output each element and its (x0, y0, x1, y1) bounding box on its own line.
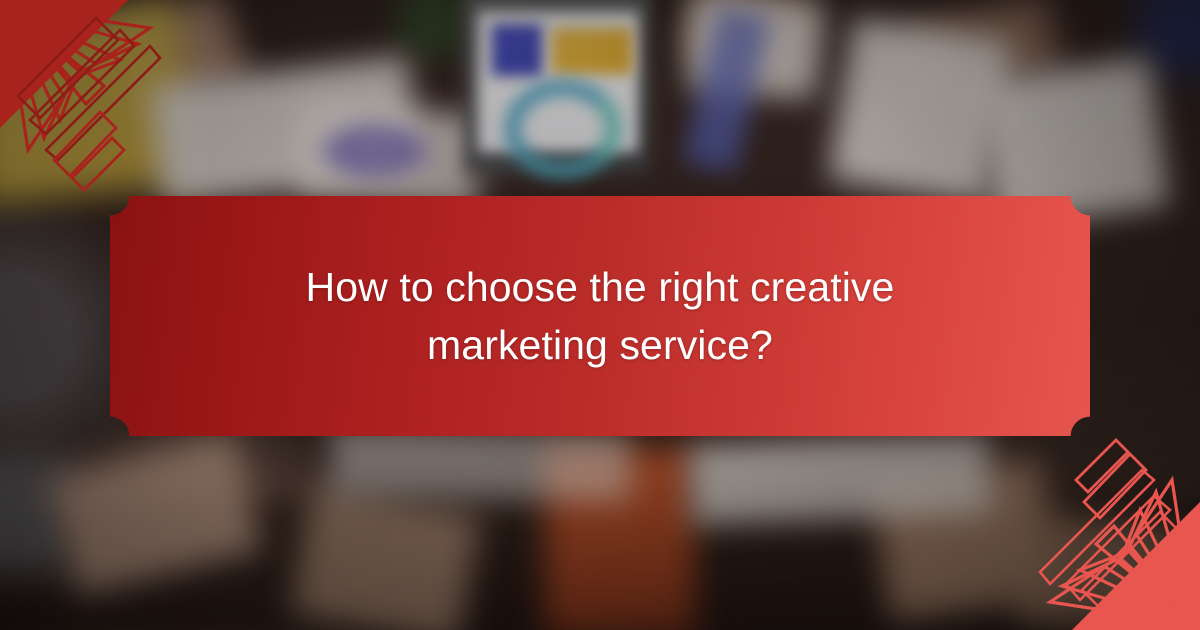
title-card: How to choose the right creative marketi… (110, 196, 1090, 436)
page-title: How to choose the right creative marketi… (280, 258, 920, 374)
article-banner: How to choose the right creative marketi… (0, 0, 1200, 630)
